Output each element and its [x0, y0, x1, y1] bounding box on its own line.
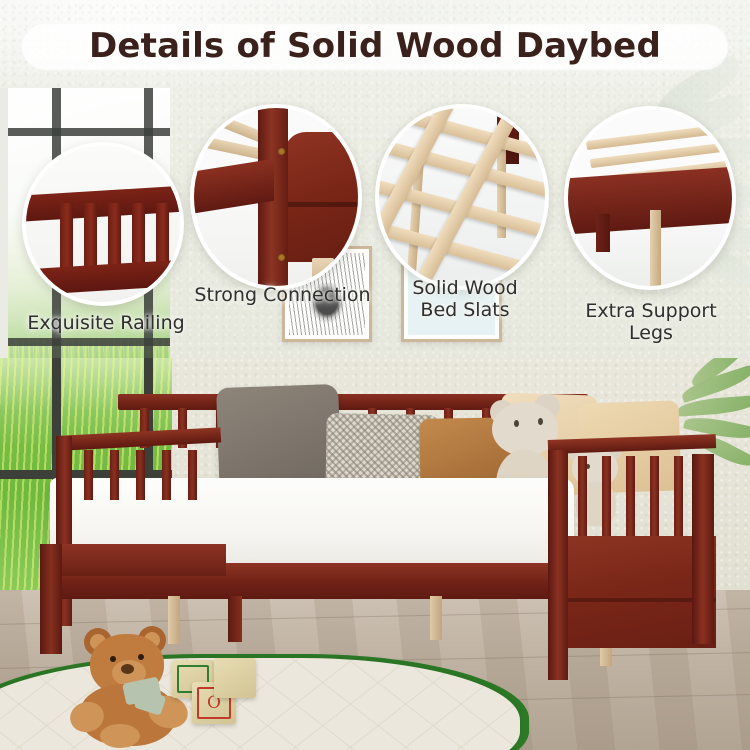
daybed-left-foot-post — [40, 544, 62, 654]
page-title: Details of Solid Wood Daybed — [0, 26, 750, 66]
toy-block-plain — [214, 658, 256, 698]
daybed-right-outer-post — [692, 454, 714, 644]
feature-thumbnail-solid-wood-bed-slats[interactable] — [375, 104, 549, 290]
feature-label-extra-support-legs: Extra Support Legs — [565, 300, 737, 344]
feature-label-exquisite-railing: Exquisite Railing — [6, 312, 206, 334]
daybed-right-panel — [548, 536, 716, 648]
product-detail-poster: Details of Solid Wood Daybed Exquisite R… — [0, 0, 750, 750]
feature-thumbnail-exquisite-railing[interactable] — [22, 142, 184, 306]
feature-label-solid-wood-bed-slats: Solid Wood Bed Slats — [390, 277, 540, 321]
daybed-left-arm-rail — [56, 427, 222, 451]
feature-thumbnail-strong-connection[interactable] — [190, 104, 362, 290]
feature-thumbnail-extra-support-legs[interactable] — [564, 106, 736, 290]
daybed-left-panel — [40, 544, 226, 576]
daybed-right-inner-post — [548, 450, 568, 680]
feature-label-strong-connection: Strong Connection — [185, 284, 380, 306]
daybed-photo: O — [0, 358, 750, 750]
